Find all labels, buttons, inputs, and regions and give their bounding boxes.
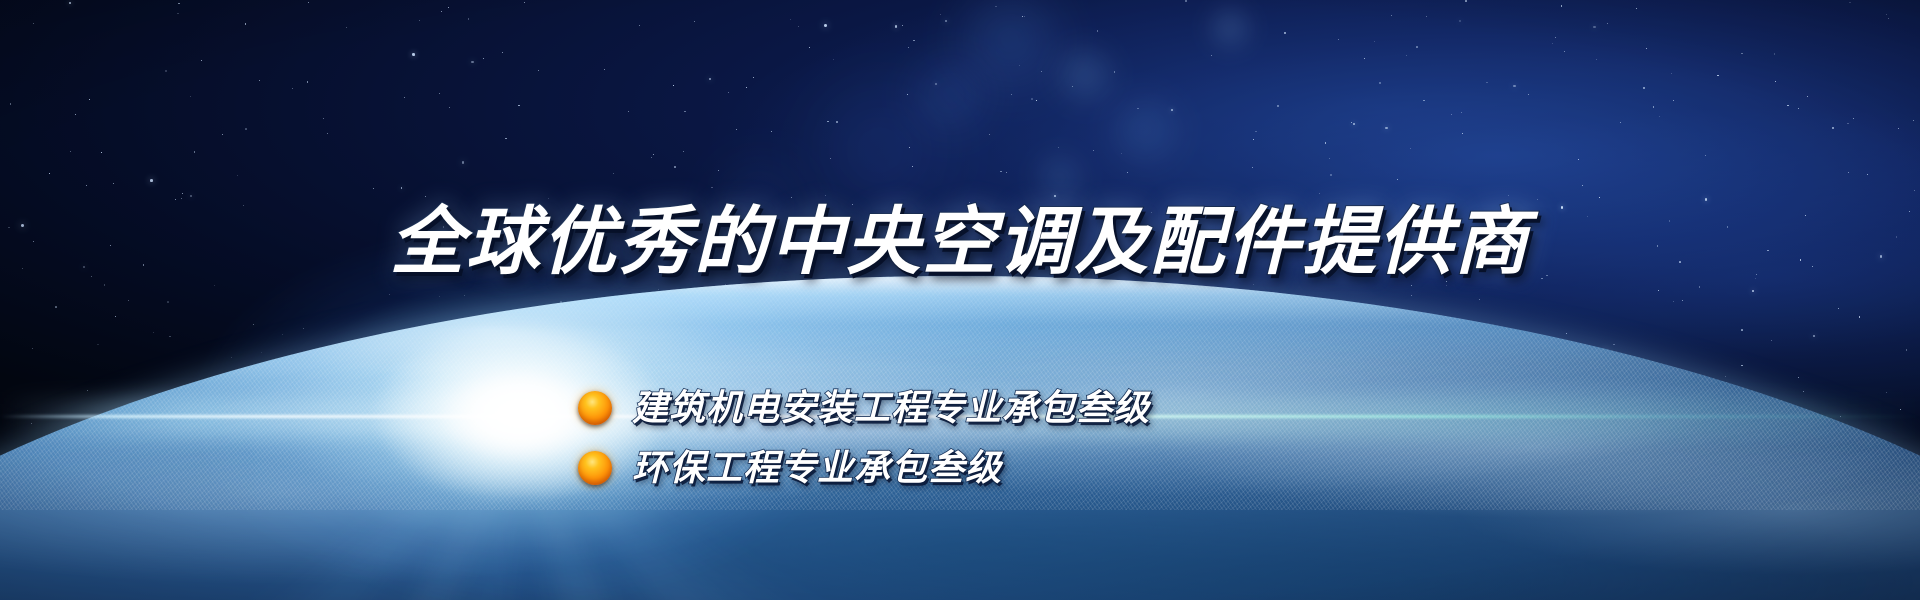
bullet-item-2-label: 环保工程专业承包叁级 bbox=[632, 450, 1002, 486]
orange-dot-icon bbox=[578, 391, 612, 425]
orange-dot-icon bbox=[578, 451, 612, 485]
bullet-item-2: 环保工程专业承包叁级 bbox=[578, 442, 1150, 494]
hero-banner: 全球优秀的中央空调及配件提供商 建筑机电安装工程专业承包叁级 环保工程专业承包叁… bbox=[0, 0, 1920, 600]
banner-headline: 全球优秀的中央空调及配件提供商 bbox=[390, 205, 1530, 279]
banner-bullet-list: 建筑机电安装工程专业承包叁级 环保工程专业承包叁级 bbox=[578, 382, 1150, 502]
bullet-item-1: 建筑机电安装工程专业承包叁级 bbox=[578, 382, 1150, 434]
bullet-item-1-label: 建筑机电安装工程专业承包叁级 bbox=[632, 390, 1150, 426]
banner-content: 全球优秀的中央空调及配件提供商 建筑机电安装工程专业承包叁级 环保工程专业承包叁… bbox=[0, 0, 1920, 600]
